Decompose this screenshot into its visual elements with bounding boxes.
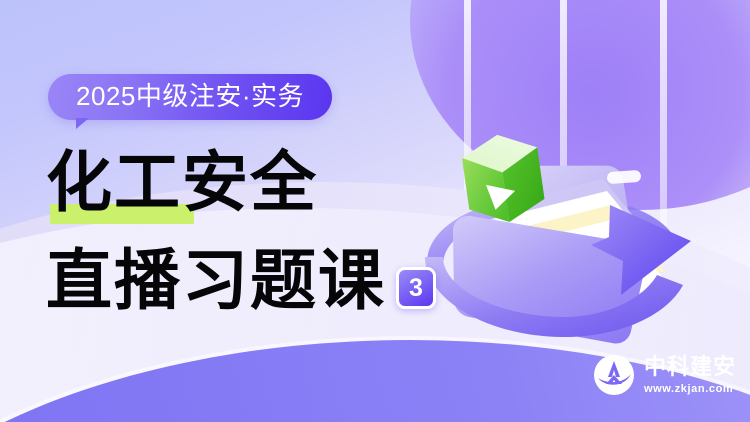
episode-number-badge: 3 (396, 267, 436, 309)
course-tag-label: 2025中级注安·实务 (48, 74, 332, 120)
course-promo-banner: 2025中级注安·实务 化工安全 直播习题课 3 (0, 0, 750, 422)
brand-logo[interactable]: 中科建安 www.zkjan.com (593, 354, 736, 396)
course-tag: 2025中级注安·实务 (48, 74, 332, 120)
headline-line-1-row: 化工安全 (46, 148, 436, 220)
logo-company-name: 中科建安 (644, 356, 736, 378)
logo-website-url: www.zkjan.com (644, 384, 736, 395)
headline-block: 化工安全 直播习题课 3 (46, 148, 436, 318)
course-tag-tail-icon (76, 118, 89, 129)
headline-line-1: 化工安全 (46, 147, 318, 220)
headline-line-2-row: 直播习题课 3 (46, 240, 436, 318)
folder-illustration (395, 95, 715, 345)
logo-mark-icon (593, 354, 635, 396)
logo-text-block: 中科建安 www.zkjan.com (644, 356, 736, 395)
headline-line-2: 直播习题课 (46, 246, 386, 318)
